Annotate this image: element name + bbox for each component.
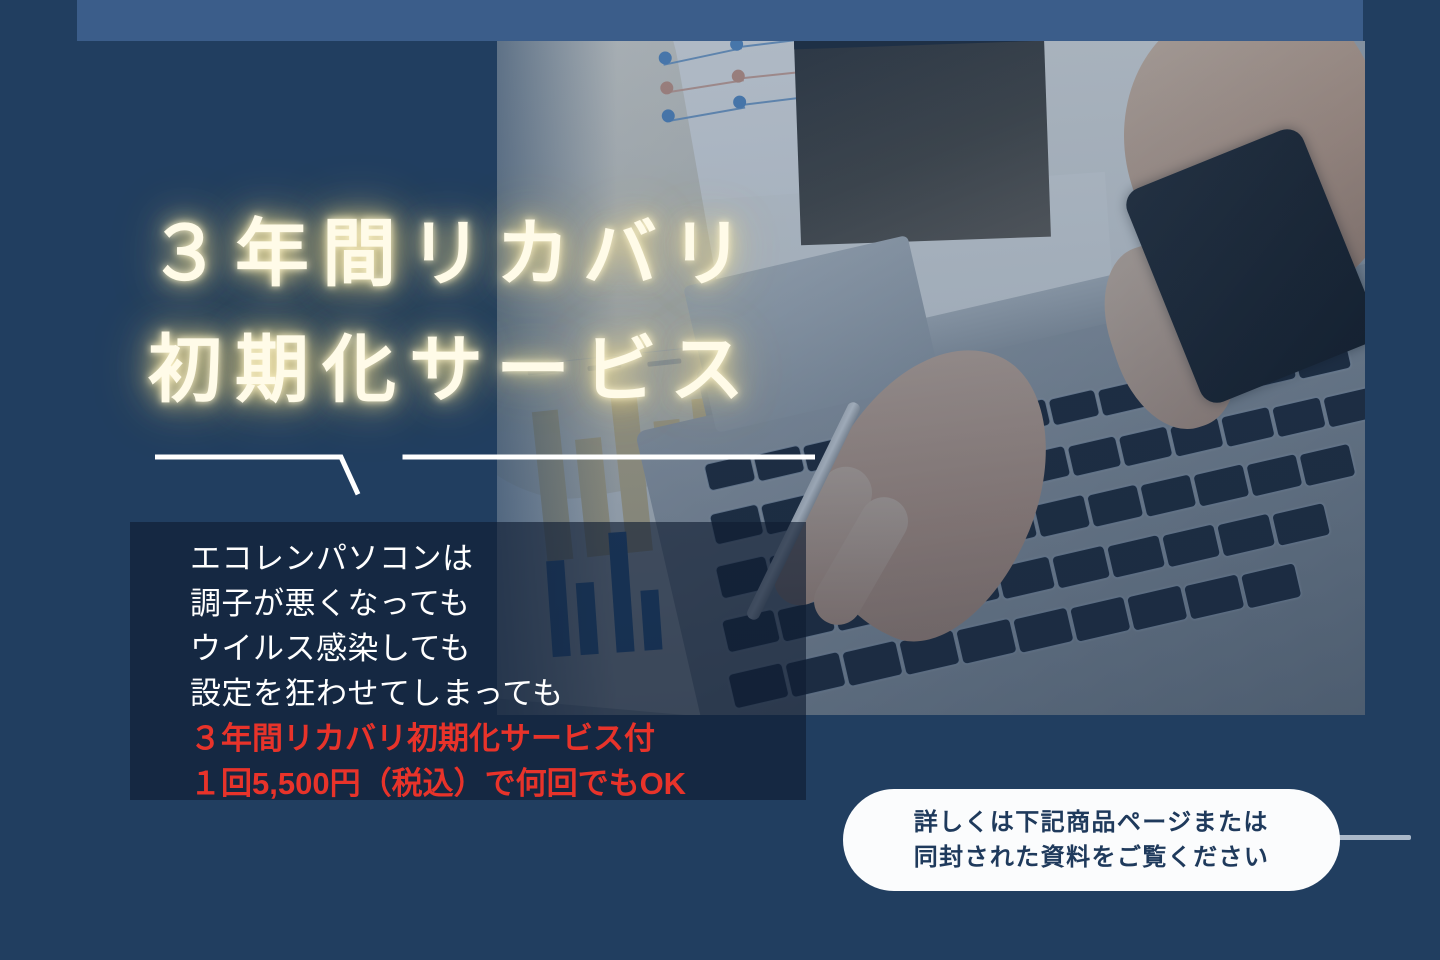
copy-line-accent: １回5,500円（税込）で何回でもOK — [190, 761, 806, 806]
promo-banner: ３年間リカバリ 初期化サービス エコレンパソコンは 調子が悪くなっても ウイルス… — [0, 0, 1440, 960]
copy-card: エコレンパソコンは 調子が悪くなっても ウイルス感染しても 設定を狂わせてしまっ… — [130, 522, 806, 800]
decorative-rules — [155, 440, 815, 500]
copy-line: ウイルス感染しても — [190, 626, 806, 671]
page-title: ３年間リカバリ 初期化サービス — [148, 196, 757, 428]
copy-line: エコレンパソコンは — [190, 536, 806, 581]
headline-line-2: 初期化サービス — [148, 312, 757, 428]
callout-pill: 詳しくは下記商品ページまたは 同封された資料をご覧ください — [843, 789, 1340, 891]
callout-line-1: 詳しくは下記商品ページまたは — [914, 805, 1270, 840]
rule-svg — [155, 440, 815, 500]
top-accent-bar — [77, 0, 1363, 41]
callout-text: 詳しくは下記商品ページまたは 同封された資料をご覧ください — [914, 805, 1270, 875]
underline-rule-with-tail — [157, 457, 357, 492]
callout-line-2: 同封された資料をご覧ください — [914, 840, 1270, 875]
copy-line: 設定を狂わせてしまっても — [190, 671, 806, 716]
headline-line-1: ３年間リカバリ — [148, 196, 757, 312]
copy-list: エコレンパソコンは 調子が悪くなっても ウイルス感染しても 設定を狂わせてしまっ… — [130, 522, 806, 806]
copy-line: 調子が悪くなっても — [190, 581, 806, 626]
copy-line-accent: ３年間リカバリ初期化サービス付 — [190, 716, 806, 761]
